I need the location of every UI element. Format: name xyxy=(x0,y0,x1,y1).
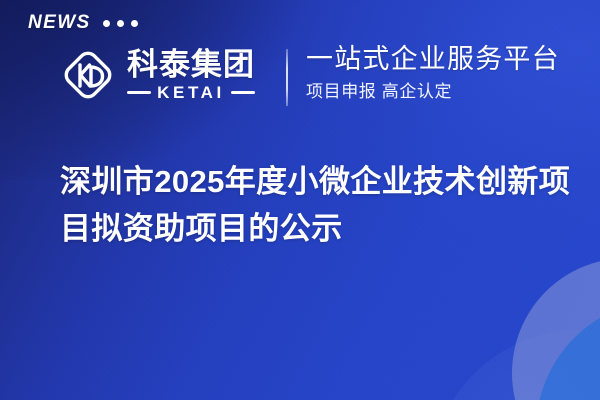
news-eyebrow: NEWS xyxy=(28,13,138,32)
brand-names: 科泰集团 KETAI xyxy=(127,49,255,100)
news-dots-ornament-icon xyxy=(103,19,138,27)
brand-rule-left xyxy=(127,91,151,94)
brand-name-en-row: KETAI xyxy=(127,84,255,101)
news-dot-icon xyxy=(117,20,124,27)
brand-name-en: KETAI xyxy=(157,84,225,101)
news-label: NEWS xyxy=(28,13,91,32)
page-title: 深圳市2025年度小微企业技术创新项目拟资助项目的公示 xyxy=(60,158,580,252)
brand-rule-right xyxy=(231,91,255,94)
news-dot-icon xyxy=(131,20,138,27)
brand-lockup: 科泰集团 KETAI xyxy=(55,42,255,108)
tagline-block: 一站式企业服务平台 项目申报 高企认定 xyxy=(306,44,560,102)
ketai-diamond-kd-monogram-icon xyxy=(55,42,121,108)
brand-name-cn: 科泰集团 xyxy=(127,49,255,81)
news-dot-icon xyxy=(103,20,110,27)
news-banner: NEWS 科泰集团 xyxy=(0,0,600,400)
tagline-sub: 项目申报 高企认定 xyxy=(306,82,560,102)
tagline-main: 一站式企业服务平台 xyxy=(306,44,560,76)
vertical-divider xyxy=(286,49,288,106)
